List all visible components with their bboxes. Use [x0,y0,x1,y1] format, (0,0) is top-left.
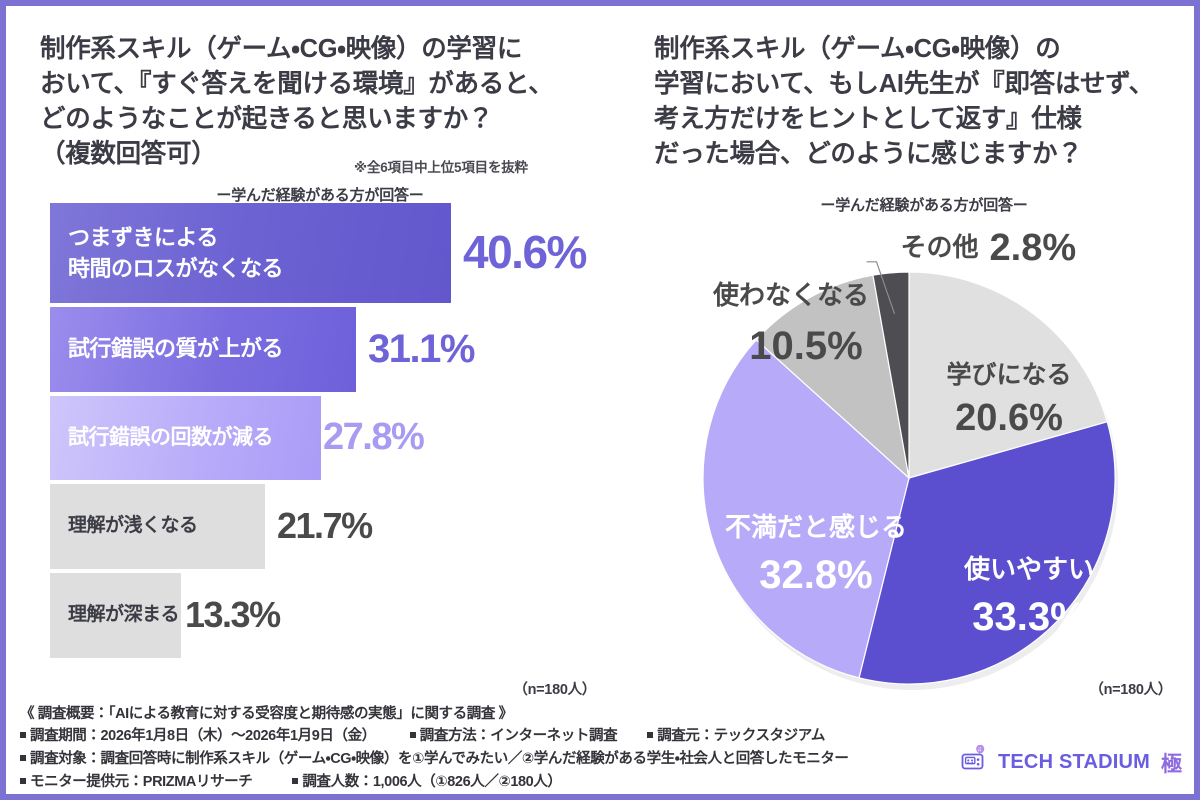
bar-label: 理解が深まる [68,604,179,627]
pie-slice-label: 使わなくなる [712,280,869,310]
footer-item: 調査対象：調査回答時に制作系スキル（ゲーム・CG・映像）を①学んでみたい／②学ん… [30,751,849,767]
bar-label: 試行錯誤の回数が減る [68,425,273,450]
pie-slice-label: その他 [901,232,979,262]
footer-item: モニター提供元：PRIZMAリサーチ [30,774,252,790]
left-respondent-note: ー学んだ経験がある方が回答ー [40,184,600,205]
footer-row-3: モニター提供元：PRIZMAリサーチ調査人数：1,006人（①826人／②180… [20,770,562,791]
right-sample-size: （n=180人） [626,678,1172,699]
bar-value-label: 31.1% [368,329,474,369]
bar-row: 試行錯誤の質が上がる31.1% [50,307,610,392]
pie-slice-label: 20.6% [955,397,1063,439]
bar-row: つまずきによる 時間のロスがなくなる40.6% [50,203,610,303]
left-question-title: 制作系スキル（ゲーム・CG・映像）の学習において、『すぐ答えを聞ける環境』がある… [40,32,600,172]
bar-row: 理解が浅くなる21.7% [50,484,610,569]
bullet-square-icon [292,778,298,784]
logo-suffix: 極 [1161,748,1182,778]
left-sample-size: （n=180人） [6,678,596,699]
pie-slice-label: 32.8% [759,553,872,597]
bullet-square-icon [410,732,416,738]
pie-slice-label: 33.3% [972,595,1085,639]
bullet-square-icon [647,732,653,738]
bullet-square-icon [20,778,26,784]
pie-slice-label: 学びになる [946,360,1071,389]
bar-chart: つまずきによる 時間のロスがなくなる40.6%試行錯誤の質が上がる31.1%試行… [50,203,610,662]
bar-row: 試行錯誤の回数が減る27.8% [50,396,610,480]
game-console-icon [961,745,991,780]
footer-item: 調査元：テックスタジアム [657,728,825,744]
right-panel-pie-chart: 制作系スキル（ゲーム・CG・映像）の学習において、もしAI先生が『即答はせず、考… [626,6,1200,806]
bar-value-label: 27.8% [323,418,423,456]
bar-segment: 理解が浅くなる [50,484,265,569]
footer-item: 調査期間：2026年1月8日（木）～2026年1月9日（金） [30,728,376,744]
infographic-frame: 制作系スキル（ゲーム・CG・映像）の学習において、『すぐ答えを聞ける環境』がある… [0,0,1200,800]
footer-row-2: 調査対象：調査回答時に制作系スキル（ゲーム・CG・映像）を①学んでみたい／②学ん… [20,747,849,768]
footer-survey-overview: 《 調査概要：「AIによる教育に対する受容度と期待感の実態」に関する調査 》 調… [6,700,1194,794]
footer-row-1: 調査期間：2026年1月8日（木）～2026年1月9日（金）調査方法：インターネ… [20,724,825,745]
bar-label: 理解が浅くなる [68,515,198,538]
tech-stadium-logo: TECH STADIUM 極 [961,745,1182,780]
bar-segment: 試行錯誤の質が上がる [50,307,356,392]
bar-row: 理解が深まる13.3% [50,573,610,658]
left-panel-bar-chart: 制作系スキル（ゲーム・CG・映像）の学習において、『すぐ答えを聞ける環境』がある… [6,6,626,806]
footer-item: 調査人数：1,006人（①826人／②180人） [302,774,561,790]
logo-wordmark: TECH STADIUM [998,751,1150,774]
footer-item: 調査方法：インターネット調査 [420,728,617,744]
bar-value-label: 40.6% [463,229,586,275]
pie-callout-value: 2.8% [990,227,1077,269]
bar-label: 試行錯誤の質が上がる [68,336,283,362]
bar-value-label: 21.7% [277,508,372,544]
bar-segment: 試行錯誤の回数が減る [50,396,321,480]
bullet-square-icon [20,755,26,761]
excerpt-note: ※全6項目中上位5項目を抜粋 [354,156,528,176]
bar-segment: 理解が深まる [50,573,181,658]
bar-value-label: 13.3% [185,597,280,633]
footer-heading: 《 調査概要：「AIによる教育に対する受容度と期待感の実態」に関する調査 》 [20,702,513,723]
pie-slice-label: 使いやすい [963,554,1094,584]
pie-slice-label: 10.5% [749,324,862,368]
bar-label: つまずきによる 時間のロスがなくなる [68,222,283,284]
bullet-square-icon [20,732,26,738]
bar-segment: つまずきによる 時間のロスがなくなる [50,203,451,303]
pie-slice-label: 不満だと感じる [725,512,907,542]
